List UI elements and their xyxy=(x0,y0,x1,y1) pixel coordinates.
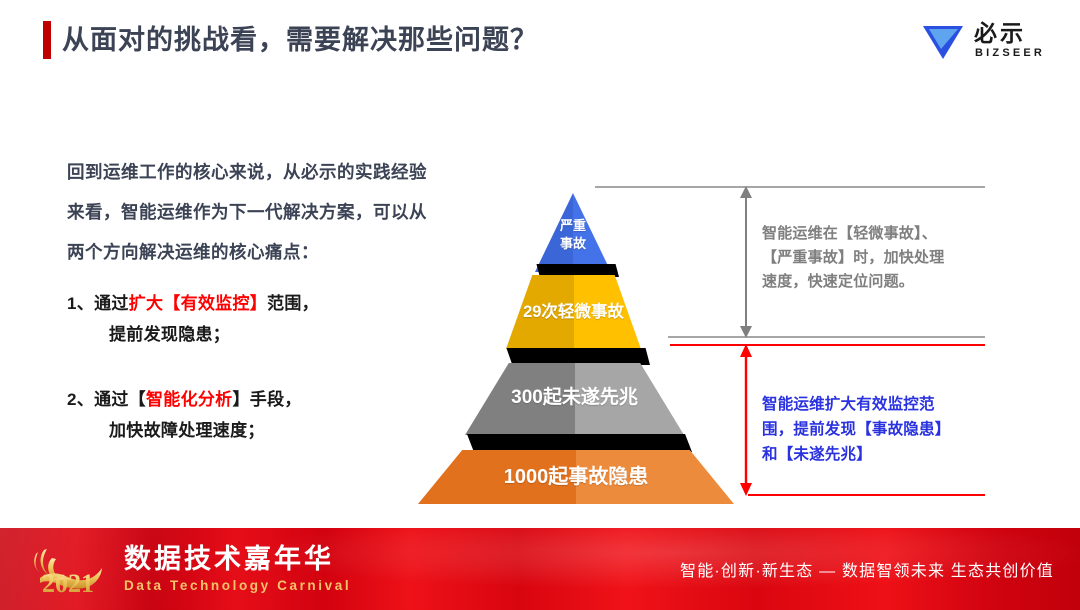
point-2-bracket-open: 【 xyxy=(129,390,146,409)
point-2-suffix: 手段， xyxy=(250,390,302,409)
annotation-lower-text: 智能运维扩大有效监控范 围，提前发现【事故隐患】 和【未遂先兆】 xyxy=(762,392,994,467)
point-2-highlight: 智能化分析 xyxy=(146,390,233,409)
point-1-prefix: 通过 xyxy=(94,294,129,313)
annotation-top-rule xyxy=(595,186,985,188)
svg-text:2021: 2021 xyxy=(42,569,94,598)
page-title: 从面对的挑战看，需要解决那些问题？ xyxy=(62,21,538,59)
point-1-index: 1、 xyxy=(67,294,94,313)
double-arrow-vertical-gray-icon xyxy=(738,186,754,338)
label-line-1: 严重 xyxy=(535,217,611,235)
pyramid-level-3-label: 300起未遂先兆 xyxy=(465,385,684,411)
point-2-index: 2、 xyxy=(67,390,94,409)
logo-text-cn: 必示 xyxy=(974,20,1026,46)
annotation-lower-line: 智能运维扩大有效监控范 xyxy=(762,392,994,417)
pyramid-level-severe: 严重 事故 xyxy=(535,193,611,272)
pyramid-level-1-label: 严重 事故 xyxy=(535,217,611,253)
label-line-2: 事故 xyxy=(535,235,611,253)
pyramid-level-4-label: 1000起事故隐患 xyxy=(418,463,734,491)
annotation-lower-line: 围，提前发现【事故隐患】 xyxy=(762,417,994,442)
footer-event-name-cn: 数据技术嘉年华 xyxy=(124,542,334,576)
pyramid-level-nearmiss: 300起未遂先兆 xyxy=(465,363,684,435)
title-accent-marker xyxy=(43,21,51,59)
annotation-upper-line: 智能运维在【轻微事故】、 xyxy=(762,222,994,246)
ox-2021-logo-icon: 2021 xyxy=(22,540,118,602)
pyramid-level-minor: 29次轻微事故 xyxy=(506,275,641,349)
pyramid-level-hazard: 1000起事故隐患 xyxy=(418,450,734,504)
point-1-highlight: 扩大【有效监控】 xyxy=(129,294,267,313)
brand-logo: 必示 BIZSEER xyxy=(922,20,1042,64)
logo-text-en: BIZSEER xyxy=(975,47,1045,59)
header-bar: 从面对的挑战看，需要解决那些问题？ 必示 BIZSEER xyxy=(0,0,1080,90)
pyramid-level-2-label: 29次轻微事故 xyxy=(506,301,641,323)
point-2-bracket-close: 】 xyxy=(232,390,249,409)
annotation-upper-line: 【严重事故】时，加快处理 xyxy=(762,246,994,270)
point-2-prefix: 通过 xyxy=(94,390,129,409)
point-1-suffix: 范围， xyxy=(267,294,319,313)
annotation-upper-text: 智能运维在【轻微事故】、 【严重事故】时，加快处理 速度，快速定位问题。 xyxy=(762,222,994,294)
annotation-middle-gray-rule xyxy=(668,336,985,338)
annotation-bottom-red-rule xyxy=(748,494,985,496)
footer-tagline: 智能·创新·新生态 — 数据智领未来 生态共创价值 xyxy=(680,562,1054,582)
bizseer-triangle-check-icon xyxy=(922,23,964,61)
double-arrow-vertical-red-icon xyxy=(738,344,754,496)
footer-event-name-en: Data Technology Carnival xyxy=(124,578,351,594)
annotation-middle-red-rule xyxy=(670,344,985,346)
annotation-upper-line: 速度，快速定位问题。 xyxy=(762,270,994,294)
annotation-lower-line: 和【未遂先兆】 xyxy=(762,442,994,467)
